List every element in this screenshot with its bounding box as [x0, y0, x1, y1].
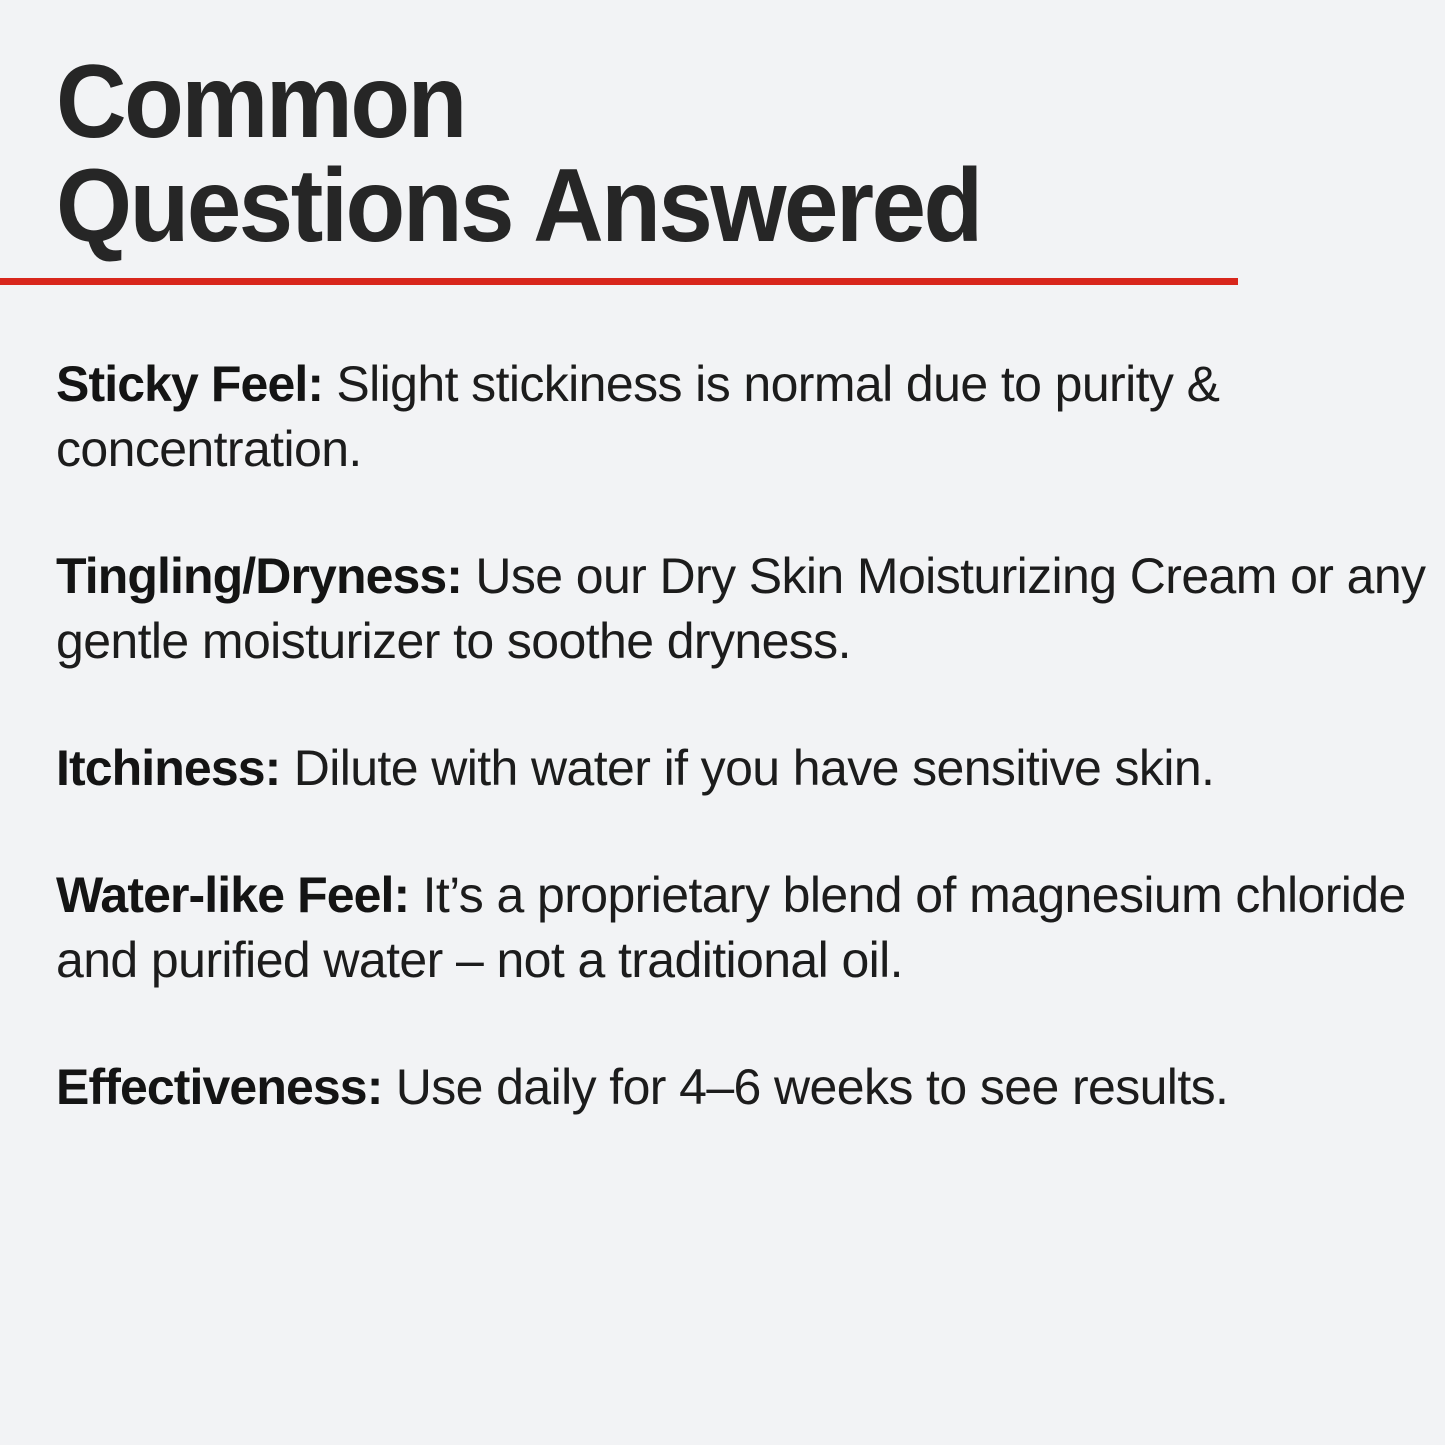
page-title-line-2: Questions Answered [56, 156, 1278, 258]
faq-label-effectiveness: Effectiveness: [56, 1059, 382, 1115]
faq-item-itchiness: Itchiness: Dilute with water if you have… [56, 736, 1428, 801]
page-title: Common Questions Answered [56, 52, 1356, 258]
faq-label-sticky-feel: Sticky Feel: [56, 356, 323, 412]
faq-item-effectiveness: Effectiveness: Use daily for 4–6 weeks t… [56, 1055, 1428, 1120]
faq-card: Common Questions Answered Sticky Feel: S… [0, 0, 1445, 1445]
faq-label-itchiness: Itchiness: [56, 740, 280, 796]
faq-item-sticky-feel: Sticky Feel: Slight stickiness is normal… [56, 352, 1428, 482]
faq-label-water-like-feel: Water-like Feel: [56, 867, 409, 923]
faq-item-tingling-dryness: Tingling/Dryness: Use our Dry Skin Moist… [56, 544, 1428, 674]
faq-text-effectiveness: Use daily for 4–6 weeks to see results. [382, 1059, 1228, 1115]
page-title-line-1: Common [56, 52, 1278, 154]
faq-label-tingling-dryness: Tingling/Dryness: [56, 548, 462, 604]
faq-text-itchiness: Dilute with water if you have sensitive … [280, 740, 1214, 796]
faq-list: Sticky Feel: Slight stickiness is normal… [56, 352, 1428, 1120]
faq-item-water-like-feel: Water-like Feel: It’s a proprietary blen… [56, 863, 1428, 993]
title-divider [0, 278, 1238, 285]
